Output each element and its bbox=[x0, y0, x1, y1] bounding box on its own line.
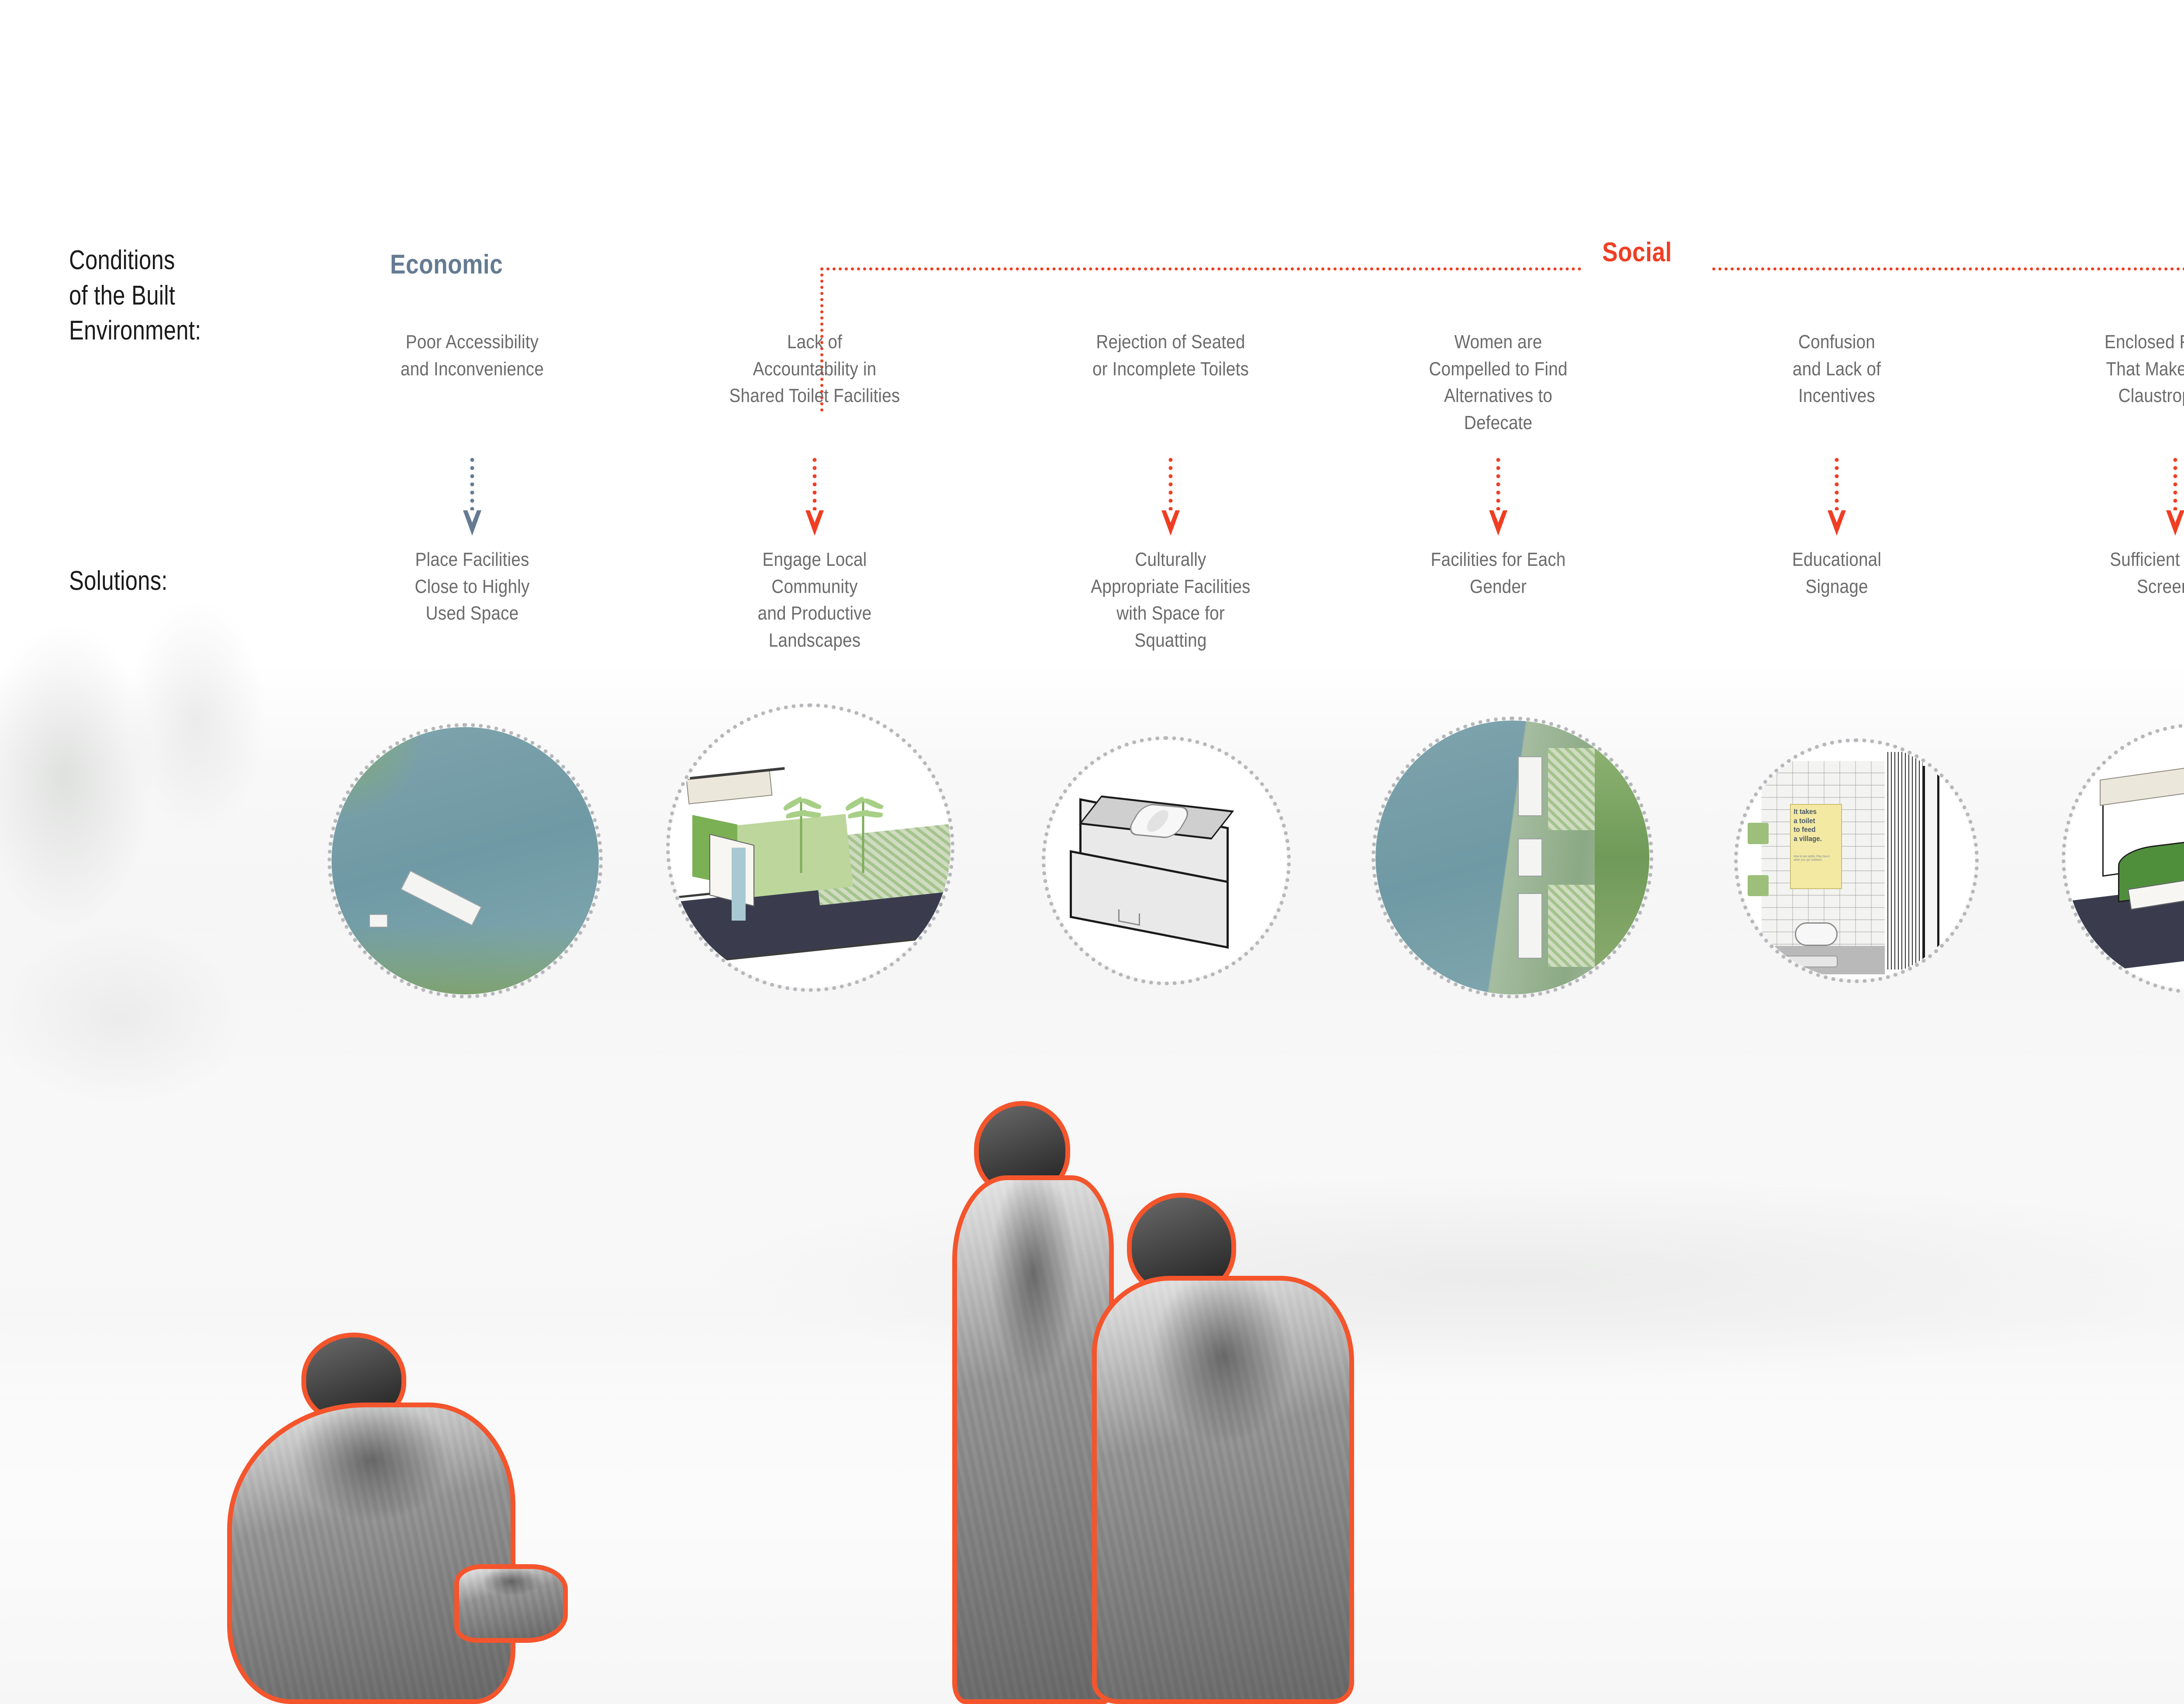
thumbnail-squat-pan-toilet-block[interactable] bbox=[1042, 736, 1291, 985]
poster-headline: It takes a toilet to feed a village. bbox=[1791, 805, 1825, 846]
thumbnail-aerial-waterfront-village[interactable] bbox=[328, 723, 603, 998]
thumbnail-strip: It takes a toilet to feed a village. How… bbox=[0, 0, 2184, 1092]
thumbnail-open-screened-stall[interactable] bbox=[2062, 723, 2184, 994]
figure-couple-standing bbox=[948, 1101, 1367, 1704]
educational-poster: It takes a toilet to feed a village. How… bbox=[1790, 804, 1842, 889]
thumbnail-aerial-paired-facilities[interactable] bbox=[1372, 717, 1653, 998]
poster-body: How to live safely. Play how it when you… bbox=[1791, 853, 1836, 865]
figure-seated-elder bbox=[227, 1337, 533, 1704]
thumbnail-productive-landscape-axonometric[interactable] bbox=[666, 703, 954, 992]
thumbnail-toilet-interior-signage[interactable]: It takes a toilet to feed a village. How… bbox=[1734, 738, 1979, 983]
